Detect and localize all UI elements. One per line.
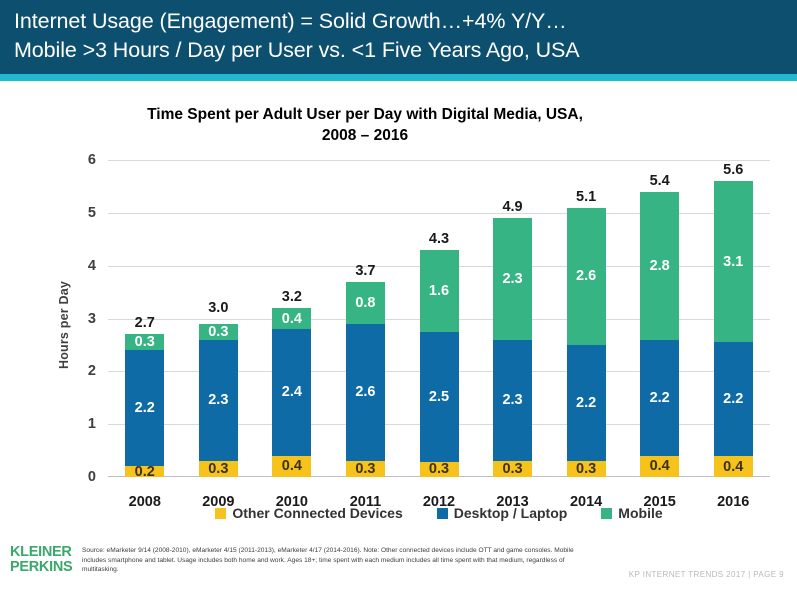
chart-legend: Other Connected DevicesDesktop / LaptopM…: [108, 505, 770, 521]
bar-segment-desktop-laptop[interactable]: 2.2: [125, 350, 164, 466]
bar-segment-other-connected-devices[interactable]: 0.2: [125, 466, 164, 477]
bar-stack[interactable]: 2.32.30.3: [493, 218, 532, 477]
legend-label: Other Connected Devices: [232, 505, 402, 521]
kleiner-perkins-logo: KLEINER PERKINS: [10, 545, 72, 575]
bar-stack[interactable]: 0.32.30.3: [199, 319, 238, 478]
y-axis-tick-label: 6: [62, 152, 96, 168]
slide-header-line-1: Internet Usage (Engagement) = Solid Grow…: [14, 7, 783, 36]
bar-total-label: 5.1: [556, 189, 616, 205]
chart-title-line-2: 2008 – 2016: [60, 125, 670, 146]
logo-line-2: PERKINS: [10, 560, 72, 575]
bar-total-label: 2.7: [115, 315, 175, 331]
legend-swatch-icon: [601, 508, 612, 519]
bar-segment-desktop-laptop[interactable]: 2.6: [346, 324, 385, 461]
y-axis-tick-label: 3: [62, 311, 96, 327]
bar-segment-other-connected-devices[interactable]: 0.3: [567, 461, 606, 477]
bar-stack[interactable]: 0.42.40.4: [272, 308, 311, 477]
chart-title: Time Spent per Adult User per Day with D…: [60, 104, 670, 146]
slide-header-line-2: Mobile >3 Hours / Day per User vs. <1 Fi…: [14, 36, 783, 65]
bar-segment-other-connected-devices[interactable]: 0.3: [346, 461, 385, 477]
bar-stack[interactable]: 3.12.20.4: [714, 181, 753, 477]
legend-label: Mobile: [618, 505, 662, 521]
bar-segment-desktop-laptop[interactable]: 2.3: [493, 340, 532, 462]
bar-total-label: 5.6: [703, 162, 763, 178]
page-credit: KP INTERNET TRENDS 2017 | PAGE 9: [629, 570, 784, 579]
bar-segment-mobile[interactable]: 3.1: [714, 181, 753, 342]
bar-total-label: 4.3: [409, 231, 469, 247]
y-axis-tick-label: 5: [62, 205, 96, 221]
legend-label: Desktop / Laptop: [454, 505, 568, 521]
y-axis-tick-label: 4: [62, 258, 96, 274]
bar-segment-desktop-laptop[interactable]: 2.2: [567, 345, 606, 461]
bar-total-label: 3.0: [188, 300, 248, 316]
legend-swatch-icon: [437, 508, 448, 519]
bar-stack[interactable]: 2.62.20.3: [567, 208, 606, 477]
legend-item[interactable]: Mobile: [601, 505, 662, 521]
bar-total-label: 5.4: [630, 173, 690, 189]
bar-segment-desktop-laptop[interactable]: 2.2: [714, 342, 753, 456]
legend-swatch-icon: [215, 508, 226, 519]
bar-segment-other-connected-devices[interactable]: 0.3: [420, 462, 459, 477]
bar-total-label: 4.9: [483, 199, 543, 215]
plot-area: 2.70.32.20.23.00.32.30.33.20.42.40.43.70…: [108, 160, 770, 477]
chart-title-line-1: Time Spent per Adult User per Day with D…: [60, 104, 670, 125]
bar-segment-mobile[interactable]: 2.8: [640, 192, 679, 340]
bar-segment-other-connected-devices[interactable]: 0.4: [714, 456, 753, 477]
bar-segment-mobile[interactable]: 0.3: [125, 334, 164, 350]
y-axis-tick-label: 0: [62, 469, 96, 485]
bar-segment-mobile[interactable]: 2.6: [567, 208, 606, 345]
bar-segment-other-connected-devices[interactable]: 0.4: [272, 456, 311, 477]
bar-segment-other-connected-devices[interactable]: 0.4: [640, 456, 679, 477]
bar-total-label: 3.2: [262, 289, 322, 305]
bar-segment-other-connected-devices[interactable]: 0.3: [493, 461, 532, 477]
bar-stack[interactable]: 0.32.20.2: [125, 334, 164, 477]
legend-item[interactable]: Other Connected Devices: [215, 505, 402, 521]
bar-stack[interactable]: 2.82.20.4: [640, 192, 679, 477]
bar-segment-mobile[interactable]: 0.8: [346, 282, 385, 324]
bar-segment-desktop-laptop[interactable]: 2.5: [420, 332, 459, 461]
gridline: [108, 160, 770, 161]
bar-segment-other-connected-devices[interactable]: 0.3: [199, 461, 238, 477]
bar-segment-mobile[interactable]: 0.4: [272, 308, 311, 329]
bar-segment-mobile[interactable]: 2.3: [493, 218, 532, 340]
chart-area: Hours per Day 0123456 2.70.32.20.23.00.3…: [0, 150, 797, 500]
y-axis-tick-label: 2: [62, 363, 96, 379]
bar-segment-mobile[interactable]: 1.6: [420, 250, 459, 333]
bar-total-label: 3.7: [335, 263, 395, 279]
slide-header: Internet Usage (Engagement) = Solid Grow…: [0, 0, 797, 74]
bar-stack[interactable]: 1.62.50.3: [420, 250, 459, 477]
bar-segment-desktop-laptop[interactable]: 2.3: [199, 340, 238, 462]
bar-segment-desktop-laptop[interactable]: 2.4: [272, 329, 311, 456]
legend-item[interactable]: Desktop / Laptop: [437, 505, 568, 521]
source-note: Source: eMarketer 9/14 (2008-2010), eMar…: [82, 546, 587, 575]
header-accent-bar: [0, 74, 797, 81]
y-axis-tick-label: 1: [62, 416, 96, 432]
bar-stack[interactable]: 0.82.60.3: [346, 282, 385, 477]
bar-segment-mobile[interactable]: 0.3: [199, 324, 238, 340]
bar-segment-desktop-laptop[interactable]: 2.2: [640, 340, 679, 456]
logo-line-1: KLEINER: [10, 545, 72, 560]
